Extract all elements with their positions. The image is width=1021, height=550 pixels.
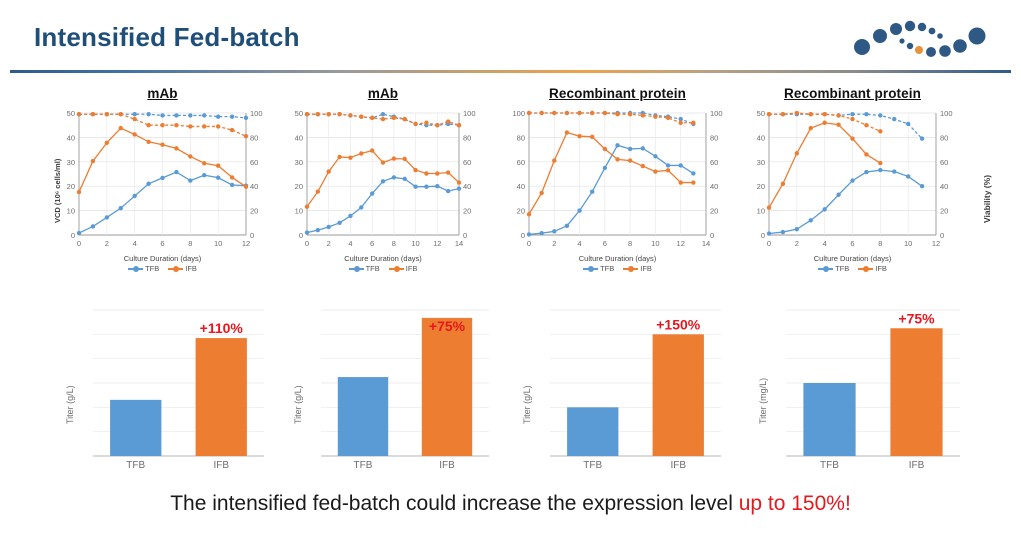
- svg-text:80: 80: [250, 133, 258, 142]
- ifb-series-swatch-icon: [858, 268, 873, 270]
- titer-bar-1: +110%Titer (g/L)TFBIFB: [55, 298, 270, 480]
- svg-text:20: 20: [250, 207, 258, 216]
- dna-helix-dots-logo: [846, 14, 996, 66]
- titer-bar-2-y-axis-label: Titer (g/L): [293, 385, 303, 424]
- svg-text:12: 12: [242, 239, 250, 248]
- svg-text:6: 6: [370, 239, 374, 248]
- titer-bar-4: +75%Titer (mg/L)TFBIFB: [748, 298, 966, 480]
- growth-chart-4-y2-axis-label: Viability (%): [982, 175, 992, 223]
- growth-chart-4-legend-item-ifb[interactable]: IFB: [858, 264, 887, 273]
- svg-text:0: 0: [710, 231, 714, 240]
- svg-text:0: 0: [463, 231, 467, 240]
- growth-chart-1: mAb01020304050020406080100024681012VCD (…: [55, 86, 270, 286]
- svg-text:10: 10: [757, 207, 765, 216]
- titer-bar-4-category-tfb: TFB: [786, 460, 873, 471]
- svg-text:40: 40: [757, 133, 765, 142]
- growth-chart-3-legend: TFBIFB: [505, 264, 730, 273]
- tfb-series-swatch-icon: [349, 268, 364, 270]
- growth-chart-4-x-axis-label: Culture Duration (days): [745, 254, 960, 263]
- svg-text:40: 40: [517, 182, 525, 191]
- growth-chart-4: Recombinant protein010203040500204060801…: [745, 86, 960, 286]
- growth-chart-4-legend-item-tfb[interactable]: TFB: [818, 264, 849, 273]
- titer-bar-1-annotation: +110%: [200, 320, 244, 336]
- growth-chart-3: Recombinant protein020406080100020406080…: [505, 86, 730, 286]
- growth-chart-2-title: mAb: [283, 86, 483, 101]
- growth-chart-1-plot: 01020304050020406080100024681012VCD (10⁶…: [55, 105, 270, 253]
- svg-text:40: 40: [250, 182, 258, 191]
- svg-text:2: 2: [327, 239, 331, 248]
- tfb-series-swatch-icon: [818, 268, 833, 270]
- svg-text:4: 4: [133, 239, 137, 248]
- slide-header: Intensified Fed-batch: [0, 0, 1021, 80]
- growth-chart-4-legend: TFBIFB: [745, 264, 960, 273]
- titer-bar-2-annotation: +75%: [429, 318, 466, 334]
- svg-text:10: 10: [904, 239, 912, 248]
- svg-text:20: 20: [940, 207, 948, 216]
- svg-text:0: 0: [940, 231, 944, 240]
- titer-bar-1-category-ifb: IFB: [179, 460, 265, 471]
- svg-text:40: 40: [463, 182, 471, 191]
- growth-chart-2-legend-item-ifb[interactable]: IFB: [389, 264, 418, 273]
- growth-chart-2-legend-label: IFB: [406, 264, 418, 273]
- titer-bar-4-annotation: +75%: [898, 310, 935, 326]
- growth-chart-2-legend-label: TFB: [366, 264, 380, 273]
- growth-chart-2: mAb0102030405002040608010002468101214Cul…: [283, 86, 483, 286]
- tfb-series-swatch-icon: [583, 268, 598, 270]
- svg-text:20: 20: [710, 207, 718, 216]
- growth-chart-1-x-axis-label: Culture Duration (days): [55, 254, 270, 263]
- svg-text:100: 100: [710, 109, 723, 118]
- summary-caption: The intensified fed-batch could increase…: [0, 492, 1021, 516]
- svg-text:0: 0: [527, 239, 531, 248]
- svg-text:100: 100: [463, 109, 476, 118]
- svg-text:2: 2: [795, 239, 799, 248]
- titer-bar-1-plot: +110%Titer (g/L): [55, 298, 270, 458]
- titer-bar-4-plot: +75%Titer (mg/L): [748, 298, 966, 458]
- growth-chart-3-x-axis-label: Culture Duration (days): [505, 254, 730, 263]
- growth-chart-4-plot: 01020304050020406080100024681012Viabilit…: [745, 105, 960, 253]
- growth-chart-1-y-axis-label: VCD (10⁶ cells/ml): [53, 159, 62, 223]
- svg-text:0: 0: [250, 231, 254, 240]
- svg-text:4: 4: [823, 239, 827, 248]
- growth-chart-4-title: Recombinant protein: [745, 86, 960, 101]
- svg-text:14: 14: [455, 239, 463, 248]
- svg-text:2: 2: [552, 239, 556, 248]
- svg-text:60: 60: [250, 158, 258, 167]
- page-title: Intensified Fed-batch: [34, 22, 300, 53]
- ifb-series-swatch-icon: [168, 268, 183, 270]
- caption-highlight-text: up to 150%!: [739, 492, 851, 515]
- growth-chart-3-plot: 02040608010002040608010002468101214: [505, 105, 730, 253]
- growth-chart-1-legend-item-ifb[interactable]: IFB: [168, 264, 197, 273]
- growth-chart-3-legend-label: TFB: [600, 264, 614, 273]
- svg-text:60: 60: [940, 158, 948, 167]
- titer-bar-3: +150%Titer (g/L)TFBIFB: [512, 298, 727, 480]
- svg-text:0: 0: [77, 239, 81, 248]
- growth-chart-1-legend-item-tfb[interactable]: TFB: [128, 264, 159, 273]
- svg-text:0: 0: [71, 231, 75, 240]
- growth-chart-1-legend-label: TFB: [145, 264, 159, 273]
- svg-text:0: 0: [767, 239, 771, 248]
- titer-bar-2-plot: +75%Titer (g/L): [283, 298, 495, 458]
- svg-text:40: 40: [67, 133, 75, 142]
- svg-text:100: 100: [250, 109, 263, 118]
- growth-chart-3-title: Recombinant protein: [505, 86, 730, 101]
- svg-text:80: 80: [710, 133, 718, 142]
- titer-bar-2-category-tfb: TFB: [321, 460, 405, 471]
- svg-text:12: 12: [932, 239, 940, 248]
- titer-bar-2: +75%Titer (g/L)TFBIFB: [283, 298, 495, 480]
- caption-plain-text: The intensified fed-batch could increase…: [170, 492, 739, 515]
- titer-bar-1-category-tfb: TFB: [93, 460, 179, 471]
- growth-chart-1-legend-label: IFB: [185, 264, 197, 273]
- svg-text:30: 30: [757, 158, 765, 167]
- svg-text:40: 40: [710, 182, 718, 191]
- svg-text:10: 10: [214, 239, 222, 248]
- svg-text:60: 60: [463, 158, 471, 167]
- growth-chart-3-legend-item-tfb[interactable]: TFB: [583, 264, 614, 273]
- svg-text:6: 6: [850, 239, 854, 248]
- svg-text:60: 60: [710, 158, 718, 167]
- svg-text:2: 2: [105, 239, 109, 248]
- growth-chart-2-legend-item-tfb[interactable]: TFB: [349, 264, 380, 273]
- titer-bar-3-category-ifb: IFB: [636, 460, 722, 471]
- svg-text:20: 20: [463, 207, 471, 216]
- titer-bar-2-category-labels: TFBIFB: [283, 460, 495, 471]
- svg-text:40: 40: [940, 182, 948, 191]
- growth-chart-3-legend-label: IFB: [640, 264, 652, 273]
- svg-text:80: 80: [940, 133, 948, 142]
- svg-text:40: 40: [295, 133, 303, 142]
- svg-text:12: 12: [677, 239, 685, 248]
- svg-text:80: 80: [517, 133, 525, 142]
- titer-bar-3-category-labels: TFBIFB: [512, 460, 727, 471]
- svg-text:12: 12: [433, 239, 441, 248]
- titer-bar-2-category-ifb: IFB: [405, 460, 489, 471]
- svg-text:30: 30: [295, 158, 303, 167]
- svg-text:0: 0: [521, 231, 525, 240]
- svg-text:6: 6: [160, 239, 164, 248]
- svg-text:14: 14: [702, 239, 710, 248]
- titer-bar-4-category-labels: TFBIFB: [748, 460, 966, 471]
- svg-text:0: 0: [305, 239, 309, 248]
- titer-bar-4-category-ifb: IFB: [873, 460, 960, 471]
- svg-text:0: 0: [299, 231, 303, 240]
- titer-bar-3-y-axis-label: Titer (g/L): [522, 385, 532, 424]
- svg-text:0: 0: [761, 231, 765, 240]
- svg-text:30: 30: [67, 158, 75, 167]
- svg-text:20: 20: [757, 182, 765, 191]
- titer-bar-3-category-tfb: TFB: [550, 460, 636, 471]
- svg-text:100: 100: [512, 109, 525, 118]
- svg-text:4: 4: [577, 239, 581, 248]
- svg-text:100: 100: [940, 109, 953, 118]
- growth-chart-1-legend: TFBIFB: [55, 264, 270, 273]
- growth-chart-2-x-axis-label: Culture Duration (days): [283, 254, 483, 263]
- svg-text:4: 4: [348, 239, 352, 248]
- svg-text:50: 50: [67, 109, 75, 118]
- svg-text:8: 8: [628, 239, 632, 248]
- svg-text:20: 20: [517, 207, 525, 216]
- svg-text:6: 6: [603, 239, 607, 248]
- svg-text:20: 20: [295, 182, 303, 191]
- svg-text:10: 10: [295, 207, 303, 216]
- ifb-series-swatch-icon: [623, 268, 638, 270]
- growth-chart-1-title: mAb: [55, 86, 270, 101]
- svg-text:10: 10: [67, 207, 75, 216]
- svg-text:10: 10: [651, 239, 659, 248]
- svg-text:20: 20: [67, 182, 75, 191]
- growth-chart-4-legend-label: TFB: [835, 264, 849, 273]
- titer-bar-1-category-labels: TFBIFB: [55, 460, 270, 471]
- svg-text:8: 8: [878, 239, 882, 248]
- svg-text:80: 80: [463, 133, 471, 142]
- ifb-series-swatch-icon: [389, 268, 404, 270]
- growth-chart-3-legend-item-ifb[interactable]: IFB: [623, 264, 652, 273]
- titer-bar-4-y-axis-label: Titer (mg/L): [758, 378, 768, 424]
- svg-text:60: 60: [517, 158, 525, 167]
- titer-bar-1-y-axis-label: Titer (g/L): [65, 385, 75, 424]
- svg-text:8: 8: [392, 239, 396, 248]
- growth-chart-2-plot: 0102030405002040608010002468101214: [283, 105, 483, 253]
- growth-chart-4-legend-label: IFB: [875, 264, 887, 273]
- titer-bar-3-annotation: +150%: [656, 316, 701, 332]
- growth-chart-2-legend: TFBIFB: [283, 264, 483, 273]
- tfb-series-swatch-icon: [128, 268, 143, 270]
- svg-text:50: 50: [757, 109, 765, 118]
- svg-text:8: 8: [188, 239, 192, 248]
- titer-bar-3-plot: +150%Titer (g/L): [512, 298, 727, 458]
- svg-text:50: 50: [295, 109, 303, 118]
- header-divider: [10, 70, 1011, 73]
- svg-text:10: 10: [411, 239, 419, 248]
